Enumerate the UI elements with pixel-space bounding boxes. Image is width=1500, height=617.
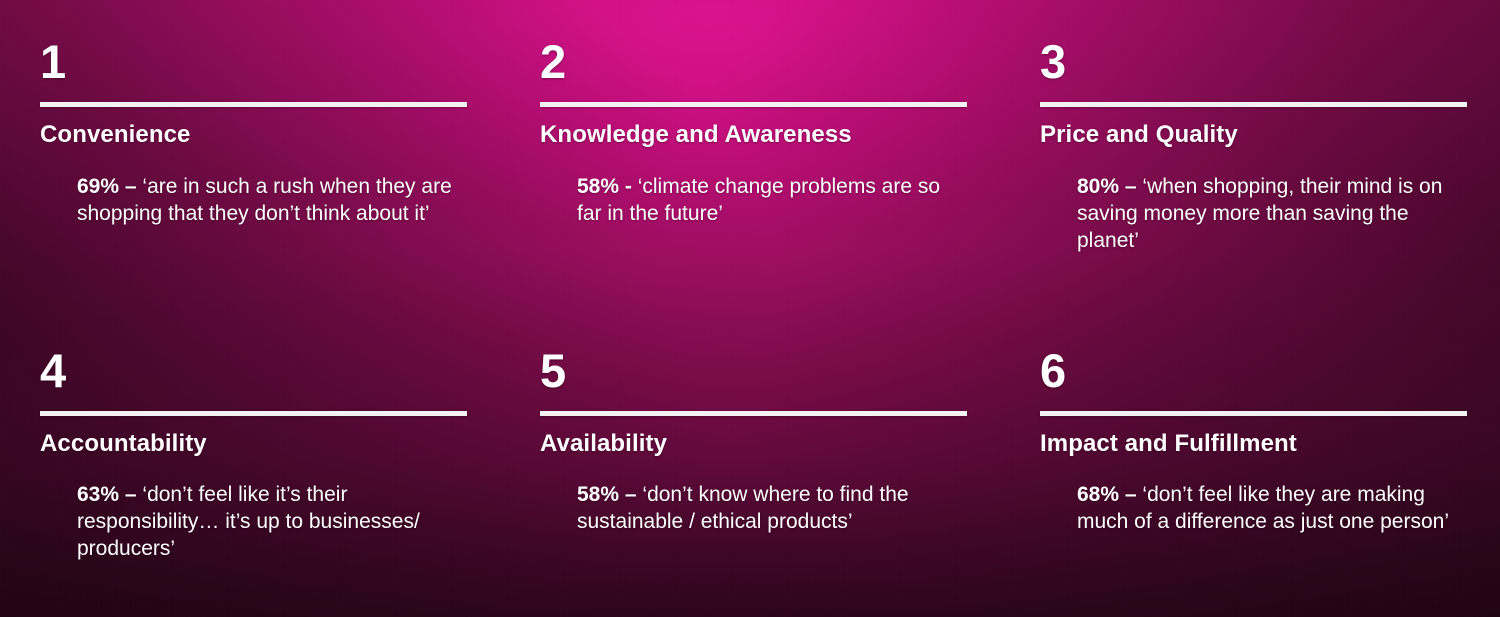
panel-divider-2 [540,102,967,107]
panel-divider-5 [540,411,967,416]
panel-number-3: 3 [1040,38,1467,85]
barrier-panel-5: 5 Availability 58% – ‘don’t know where t… [500,309,1000,617]
panel-divider-1 [40,102,467,107]
barriers-grid: 1 Convenience 69% – ‘are in such a rush … [0,0,1500,617]
panel-divider-4 [40,411,467,416]
panel-stat-5: 58% – ‘don’t know where to find the sust… [577,481,967,535]
barrier-panel-6: 6 Impact and Fulfillment 68% – ‘don’t fe… [1000,309,1500,617]
stat-percent-5: 58% [577,483,619,506]
stat-percent-3: 80% [1077,175,1119,198]
panel-title-5: Availability [540,431,967,458]
panel-stat-3: 80% – ‘when shopping, their mind is on s… [1077,173,1467,254]
panel-title-2: Knowledge and Awareness [540,122,967,149]
panel-number-6: 6 [1040,347,1467,394]
barrier-panel-3: 3 Price and Quality 80% – ‘when shopping… [1000,0,1500,309]
panel-stat-6: 68% – ‘don’t feel like they are making m… [1077,481,1467,535]
stat-percent-4: 63% [77,483,119,506]
panel-stat-4: 63% – ‘don’t feel like it’s their respon… [77,481,467,562]
barrier-panel-2: 2 Knowledge and Awareness 58% - ‘climate… [500,0,1000,309]
stat-separator-3: – [1125,175,1137,198]
stat-separator-6: – [1125,483,1137,506]
panel-title-4: Accountability [40,431,467,458]
panel-divider-3 [1040,102,1467,107]
panel-stat-2: 58% - ‘climate change problems are so fa… [577,173,967,227]
panel-stat-1: 69% – ‘are in such a rush when they are … [77,173,467,227]
slide-canvas: 1 Convenience 69% – ‘are in such a rush … [0,0,1500,617]
stat-separator-1: – [125,175,137,198]
stat-separator-4: – [125,483,137,506]
stat-percent-6: 68% [1077,483,1119,506]
stat-separator-2: - [625,175,632,198]
stat-separator-5: – [625,483,637,506]
panel-number-4: 4 [40,347,467,394]
panel-number-5: 5 [540,347,967,394]
stat-quote-2: ‘climate change problems are so far in t… [577,175,940,225]
stat-percent-1: 69% [77,175,119,198]
barrier-panel-1: 1 Convenience 69% – ‘are in such a rush … [0,0,500,309]
panel-number-2: 2 [540,38,967,85]
panel-title-6: Impact and Fulfillment [1040,431,1467,458]
panel-divider-6 [1040,411,1467,416]
panel-title-1: Convenience [40,122,467,149]
panel-title-3: Price and Quality [1040,122,1467,149]
panel-number-1: 1 [40,38,467,85]
stat-percent-2: 58% [577,175,619,198]
barrier-panel-4: 4 Accountability 63% – ‘don’t feel like … [0,309,500,617]
